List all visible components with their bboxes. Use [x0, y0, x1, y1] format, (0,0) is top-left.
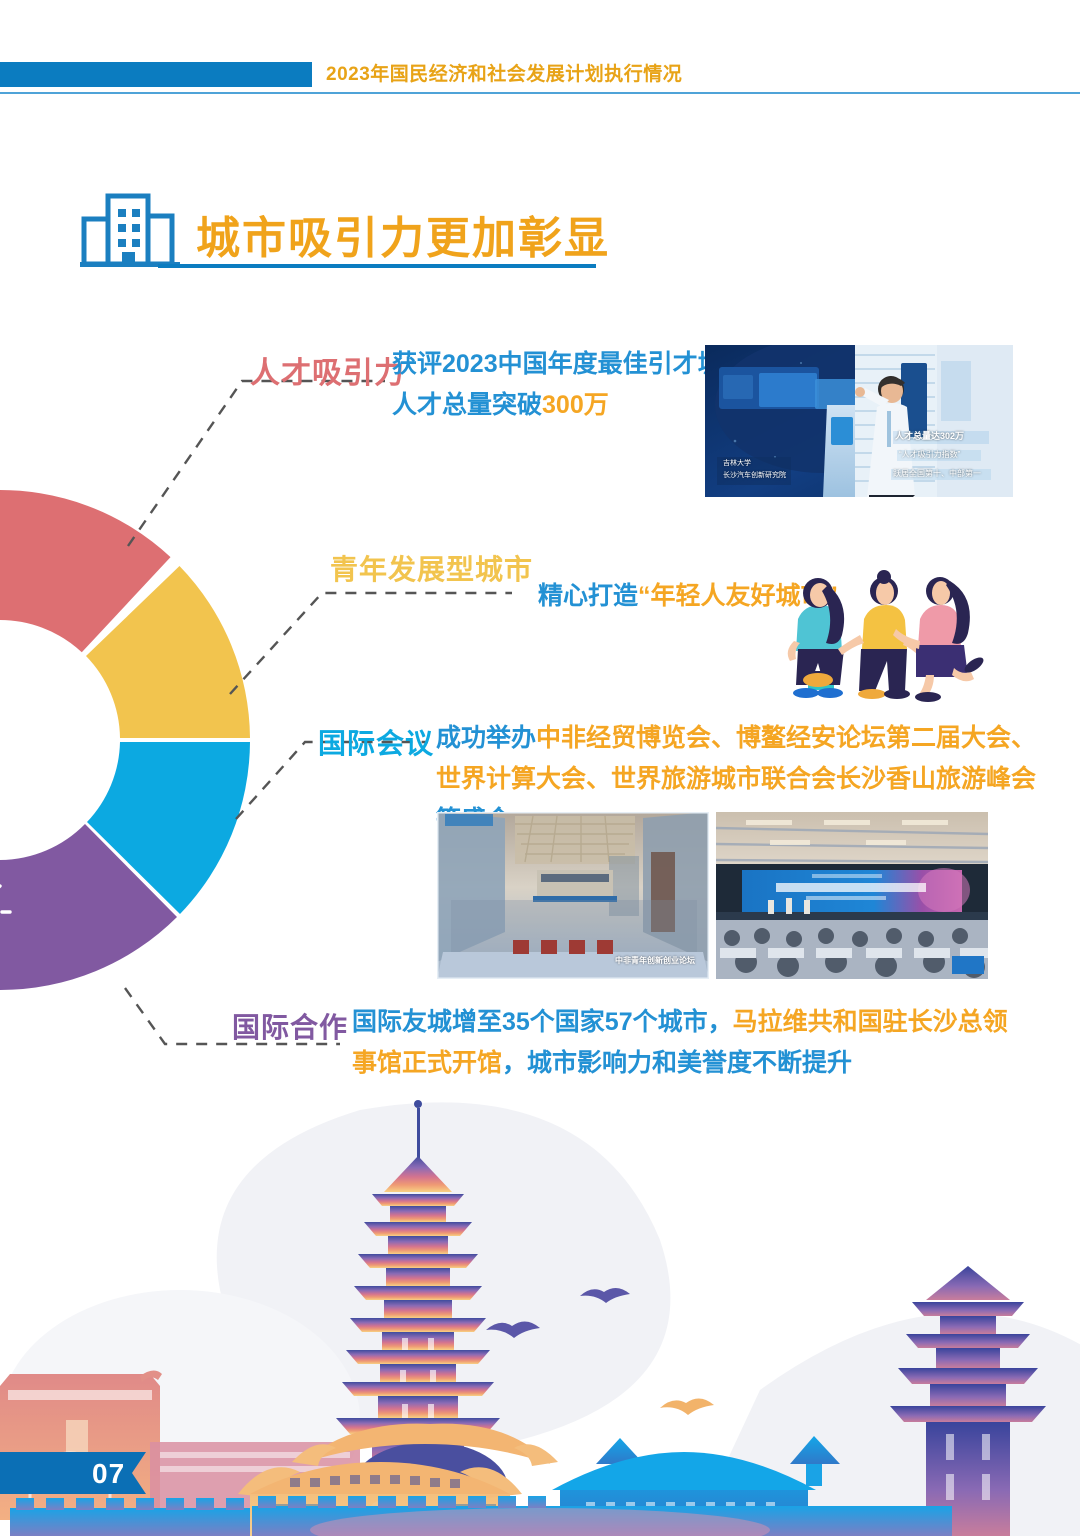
- photo-caption: “人才吸引力指数”: [899, 450, 960, 460]
- building-icon: [78, 192, 188, 268]
- block-label-talent: 人才吸引力: [250, 348, 405, 392]
- section-heading: 城市吸引力更加彰显: [78, 192, 598, 274]
- bird-orange: [660, 1398, 714, 1415]
- block-body-cooperation: 国际友城增至35个国家57个城市，马拉维共和国驻长沙总领 事馆正式开馆，城市影响…: [352, 1002, 1032, 1084]
- photo-caption: 长沙汽车创新研究院: [723, 471, 786, 481]
- page-title: 城市吸引力更加彰显: [196, 202, 610, 266]
- figure-left: [788, 578, 844, 698]
- photo-conference-1: 中非青年创新创业论坛: [437, 812, 709, 979]
- header-accent-bar: [0, 62, 312, 87]
- photo-caption: 人才总量达302万: [895, 431, 964, 441]
- block-line: 国际友城增至35个国家57个城市，马拉维共和国驻长沙总领: [352, 1002, 1032, 1043]
- page-number: 07: [92, 1458, 152, 1490]
- block-label-cooperation: 国际合作: [232, 1006, 348, 1046]
- document-page: 2023年国民经济和社会发展计划执行情况 城市吸引力更加彰显: [0, 0, 1080, 1536]
- figure-right: [893, 577, 986, 702]
- photo-caption: 吉林大学: [723, 459, 751, 469]
- photo-conference-2: [716, 812, 988, 979]
- photo-caption: 跃居全国第十、中部第一: [893, 469, 981, 479]
- left-gate-building: [0, 1370, 162, 1520]
- block-label-youth: 青年发展型城市: [330, 548, 533, 588]
- photo-talent: 吉林大学 长沙汽车创新研究院 人才总量达302万 “人才吸引力指数” 跃居全国第…: [705, 345, 1013, 497]
- photo-caption: 中非青年创新创业论坛: [615, 956, 695, 966]
- cityscape-illustration: [0, 1090, 1080, 1536]
- block-label-conference: 国际会议: [318, 722, 434, 762]
- segmented-arc-chart: [0, 470, 290, 1010]
- section-underline: [158, 264, 596, 268]
- figure-middle: [838, 570, 924, 699]
- block-line: 事馆正式开馆，城市影响力和美誉度不断提升: [352, 1043, 1032, 1084]
- block-line: 成功举办中非经贸博览会、博鳌经安论坛第二届大会、: [436, 718, 1056, 759]
- header-rule: [0, 92, 1080, 94]
- illustration-youth: [760, 545, 990, 705]
- header-title: 2023年国民经济和社会发展计划执行情况: [326, 62, 682, 87]
